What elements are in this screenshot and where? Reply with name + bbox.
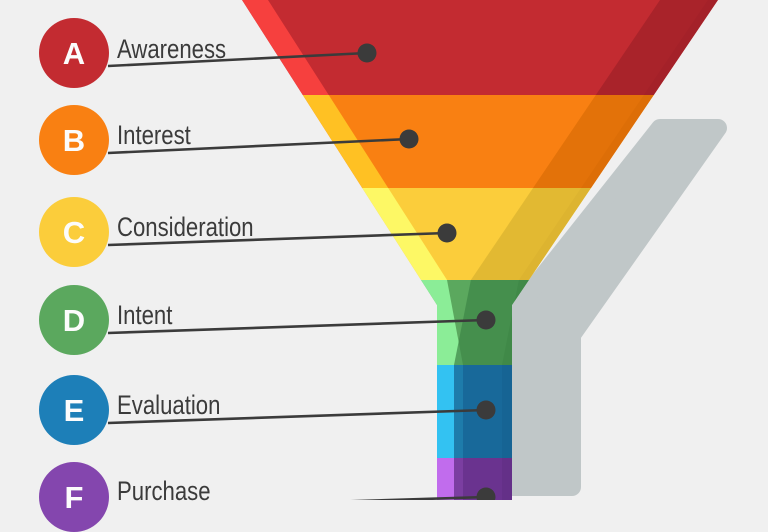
leader-dot-consideration[interactable] [438, 224, 457, 243]
funnel-diagram: AAwarenessBInterestCConsiderationDIntent… [0, 0, 768, 500]
stage-label-interest: Interest [117, 122, 191, 149]
stage-badge-f[interactable]: F [39, 462, 109, 532]
stage-badge-b[interactable]: B [39, 105, 109, 175]
stage-badge-e[interactable]: E [39, 375, 109, 445]
stage-label-purchase: Purchase [117, 478, 211, 505]
stage-badge-c[interactable]: C [39, 197, 109, 267]
stage-label-consideration: Consideration [117, 214, 254, 241]
stage-label-awareness: Awareness [117, 36, 226, 63]
stage-badge-d[interactable]: D [39, 285, 109, 355]
leader-dot-intent[interactable] [477, 311, 496, 330]
stage-label-intent: Intent [117, 302, 172, 329]
leader-dot-purchase[interactable] [477, 488, 496, 501]
leader-dot-evaluation[interactable] [477, 401, 496, 420]
stage-label-evaluation: Evaluation [117, 392, 220, 419]
stage-badge-a[interactable]: A [39, 18, 109, 88]
stage-legend: AAwarenessBInterestCConsiderationDIntent… [0, 0, 440, 500]
